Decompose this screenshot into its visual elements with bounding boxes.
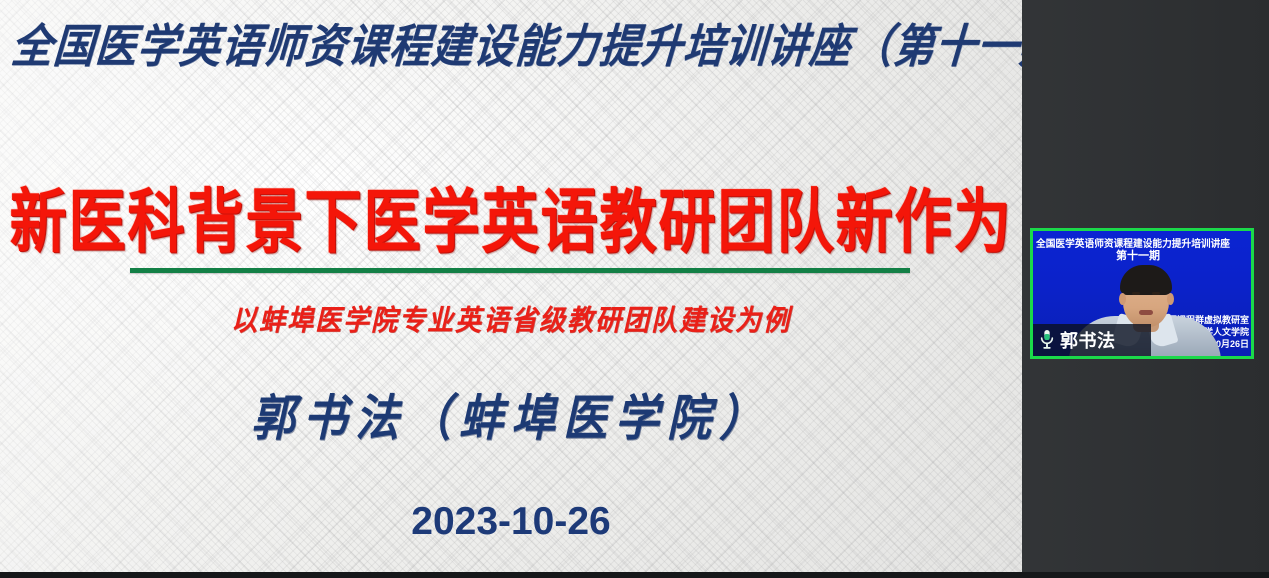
slide-divider-rule [130,268,910,273]
video-feed: 全国医学英语师资课程建设能力提升培训讲座 第十一期 语课程群虚拟教研室 学医学人… [1033,231,1251,356]
shared-slide: 全国医学英语师资课程建设能力提升培训讲座（第十一期） 新医科背景下医学英语教研团… [0,0,1022,572]
slide-subtitle: 以蚌埠医学院专业英语省级教研团队建设为例 [0,298,1022,339]
slide-paper-texture [0,0,1022,572]
slide-main-title: 新医科背景下医学英语教研团队新作为 [0,166,1022,266]
bottom-edge-strip [0,572,1269,578]
participant-name-label: 郭书法 [1060,327,1116,353]
portrait-ear-left [1119,293,1126,305]
screen-share-view: 全国医学英语师资课程建设能力提升培训讲座（第十一期） 新医科背景下医学英语教研团… [0,0,1269,578]
participant-name-bar: 郭书法 [1033,324,1151,356]
slide-date: 2023-10-26 [0,500,1022,544]
portrait-eye-left [1132,292,1140,295]
microphone-icon[interactable] [1039,329,1055,351]
portrait-mouth [1139,310,1153,315]
portrait-eye-right [1152,292,1160,295]
portrait-hair [1120,265,1172,295]
slide-kicker-heading: 全国医学英语师资课程建设能力提升培训讲座（第十一期） [9,8,1022,75]
participant-video-tile[interactable]: 全国医学英语师资课程建设能力提升培训讲座 第十一期 语课程群虚拟教研室 学医学人… [1030,228,1254,359]
slide-author-affiliation: 郭书法（蚌埠医学院） [0,378,1022,450]
portrait-ear-right [1167,293,1174,305]
